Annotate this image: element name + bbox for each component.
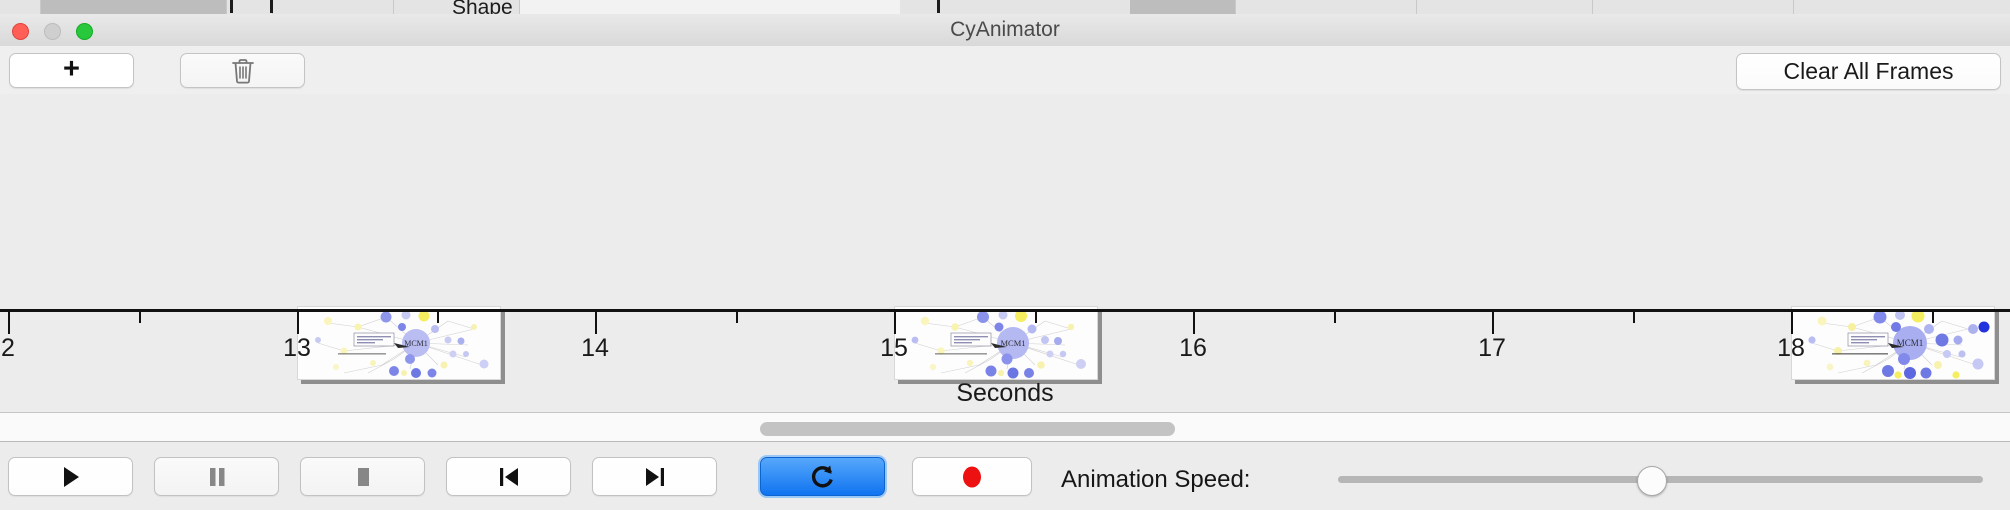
axis-tick-label: 2 [1,334,15,363]
skip-end-icon [643,465,667,489]
axis-tick-minor [437,312,439,323]
background-segment [227,0,273,14]
trash-icon [230,57,256,85]
background-segment [1593,0,1794,14]
background-segment [41,0,227,14]
background-segment [900,0,1131,14]
background-segment [1417,0,1593,14]
network-graph-thumbnail: MCM1 [894,306,1098,380]
window-title: CyAnimator [0,14,2010,46]
timeline-axis-line [0,309,2010,312]
axis-tick-label: 17 [1478,334,1506,363]
network-graph-svg: MCM1 [895,307,1098,380]
background-app-strip: Shape [0,0,2010,15]
axis-tick-major [1791,312,1793,334]
svg-text:MCM1: MCM1 [1000,338,1025,348]
axis-tick-major [297,312,299,334]
network-graph-svg: MCM1 [1792,307,1995,380]
svg-text:MCM1: MCM1 [404,339,428,348]
add-frame-button[interactable]: + [9,53,134,88]
axis-tick-label: 14 [581,334,609,363]
background-tick [230,0,233,13]
background-segment [273,0,394,14]
axis-tick-label: 16 [1179,334,1207,363]
axis-tick-major [8,312,10,334]
axis-tick-major [595,312,597,334]
network-graph-thumbnail: MCM1 [297,306,501,380]
stop-icon [353,465,373,489]
loop-icon [810,463,836,491]
pause-icon [207,465,227,489]
play-button[interactable] [8,457,133,496]
stop-button[interactable] [300,457,425,496]
background-label: Shape [452,0,513,15]
network-graph-thumbnail: MCM1 [1791,306,1995,380]
title-bar: CyAnimator [0,14,2010,47]
axis-tick-minor [736,312,738,323]
axis-tick-major [894,312,896,334]
clear-all-frames-button[interactable]: Clear All Frames [1736,53,2001,90]
timeline-panel[interactable]: MCM1 [0,94,2010,413]
cyanimator-window: Shape CyAnimator + Clear All Frames [0,0,2010,510]
record-button[interactable] [912,457,1032,496]
background-tick [937,0,940,13]
axis-tick-label: 15 [880,334,908,363]
network-graph-svg: MCM1 [298,307,501,380]
axis-tick-minor [1932,312,1934,323]
animation-speed-label: Animation Speed: [1061,466,1250,494]
playback-bar: Animation Speed: [0,442,2010,510]
axis-tick-major [1193,312,1195,334]
axis-tick-label: 13 [283,334,311,363]
axis-tick-label: 18 [1777,334,1805,363]
pause-button[interactable] [154,457,279,496]
axis-tick-minor [1334,312,1336,323]
loop-button[interactable] [760,457,885,496]
keyframe-thumbnail[interactable]: MCM1 [894,306,1102,384]
animation-speed-knob[interactable] [1637,466,1667,496]
skip-to-end-button[interactable] [592,457,717,496]
axis-tick-major [1492,312,1494,334]
axis-tick-minor [139,312,141,323]
background-segment [1794,0,2010,14]
axis-tick-minor [1035,312,1037,323]
skip-start-icon [497,465,521,489]
axis-title: Seconds [0,379,2010,408]
background-segment [1236,0,1417,14]
keyframe-thumbnail[interactable]: MCM1 [297,306,505,384]
toolbar: + Clear All Frames [0,46,2010,95]
scrollbar-thumb[interactable] [760,422,1175,436]
background-tick [270,0,273,13]
axis-tick-minor [1633,312,1635,323]
background-segment [1130,0,1236,14]
keyframe-thumbnail[interactable]: MCM1 [1791,306,1999,384]
background-segment [0,0,41,14]
svg-text:MCM1: MCM1 [1897,338,1924,348]
record-icon [959,463,985,491]
timeline-scrollbar[interactable] [0,413,2010,442]
skip-to-start-button[interactable] [446,457,571,496]
play-icon [60,465,82,489]
delete-frame-button[interactable] [180,53,305,88]
plus-icon: + [63,55,80,84]
